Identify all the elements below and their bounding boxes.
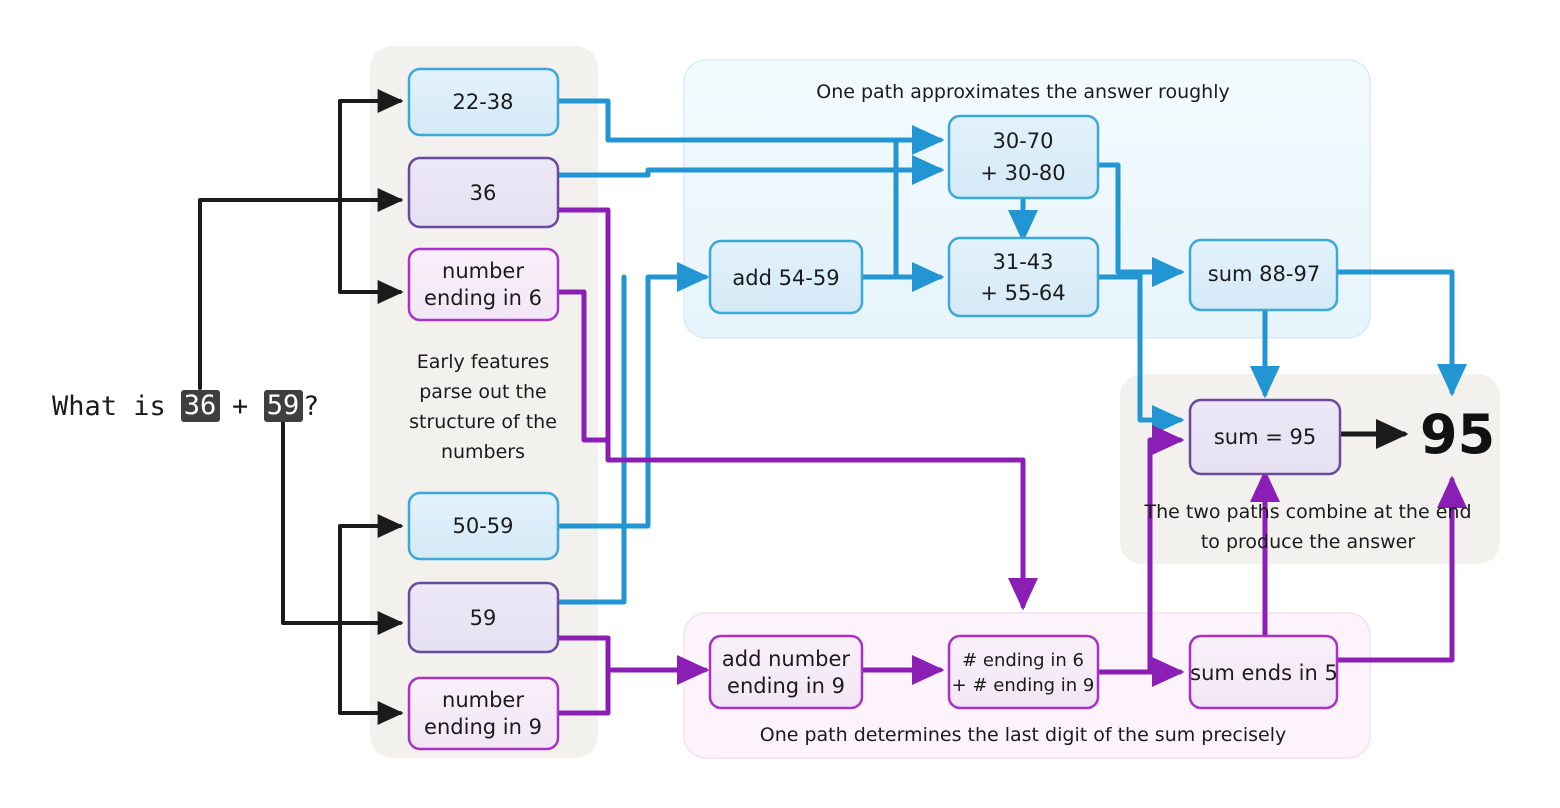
node-approx-30-70-line1: 30-70: [992, 129, 1053, 153]
node-num-36[interactable]: 36: [409, 158, 558, 227]
node-ending-in-6-line2: ending in 6: [424, 286, 542, 310]
node-approx-31-43-line1: 31-43: [992, 250, 1053, 274]
question-operator: +: [232, 391, 248, 422]
node-num-59-label: 59: [470, 606, 497, 630]
attribution-flow-diagram: 22-38 36 number ending in 6 50-59 59 num…: [0, 0, 1560, 808]
node-hash-sum-line2: + # ending in 9: [952, 675, 1095, 696]
node-approx-30-70[interactable]: 30-70 + 30-80: [949, 116, 1098, 198]
node-num-59[interactable]: 59: [409, 583, 558, 652]
question-prompt: What is 36 + 59 ?: [52, 390, 319, 422]
node-approx-31-43-line2: + 55-64: [980, 281, 1065, 305]
panel-combine-line2: to produce the answer: [1201, 531, 1416, 553]
final-answer: 95: [1420, 403, 1495, 466]
node-ending-in-9-line1: number: [442, 688, 524, 712]
node-sum-ends-in-5-label: sum ends in 5: [1190, 661, 1338, 685]
question-token-a: 36: [184, 390, 217, 421]
node-sum-95[interactable]: sum = 95: [1190, 400, 1340, 474]
node-hash-sum[interactable]: # ending in 6 + # ending in 9: [949, 636, 1098, 708]
node-sum-88-97[interactable]: sum 88-97: [1190, 240, 1337, 310]
node-add-54-59[interactable]: add 54-59: [710, 241, 862, 313]
node-sum-88-97-label: sum 88-97: [1208, 262, 1320, 286]
question-token-b: 59: [267, 390, 300, 421]
node-range-50-59[interactable]: 50-59: [409, 493, 558, 559]
node-approx-31-43[interactable]: 31-43 + 55-64: [949, 238, 1098, 316]
node-add-number-ending-9-line1: add number: [722, 647, 851, 671]
node-add-54-59-label: add 54-59: [732, 266, 839, 290]
node-ending-in-9-line2: ending in 9: [424, 715, 542, 739]
node-ending-in-9[interactable]: number ending in 9: [409, 678, 558, 749]
panel-early-features-line1: Early features: [417, 351, 550, 373]
question-prefix: What is: [52, 391, 166, 422]
node-hash-sum-line1: # ending in 6: [962, 650, 1084, 671]
panel-early-features-line3: structure of the: [409, 411, 557, 433]
node-range-22-38[interactable]: 22-38: [409, 69, 558, 135]
node-num-36-label: 36: [470, 181, 497, 205]
node-ending-in-6-line1: number: [442, 259, 524, 283]
node-sum-95-label: sum = 95: [1214, 425, 1316, 449]
node-approx-30-70-line2: + 30-80: [980, 161, 1065, 185]
node-range-22-38-label: 22-38: [452, 90, 513, 114]
panel-early-features-line4: numbers: [441, 441, 525, 463]
panel-early-features-line2: parse out the: [419, 381, 546, 403]
node-add-number-ending-9[interactable]: add number ending in 9: [710, 636, 862, 708]
node-range-50-59-label: 50-59: [452, 514, 513, 538]
node-add-number-ending-9-line2: ending in 9: [727, 674, 845, 698]
node-sum-ends-in-5[interactable]: sum ends in 5: [1190, 636, 1338, 708]
diagram-canvas: 22-38 36 number ending in 6 50-59 59 num…: [0, 0, 1560, 808]
question-suffix: ?: [303, 391, 319, 422]
panel-approximation-label: One path approximates the answer roughly: [816, 81, 1229, 103]
node-ending-in-6[interactable]: number ending in 6: [409, 249, 558, 320]
panel-combine-line1: The two paths combine at the end: [1144, 501, 1472, 523]
panel-last-digit-label: One path determines the last digit of th…: [760, 724, 1287, 746]
